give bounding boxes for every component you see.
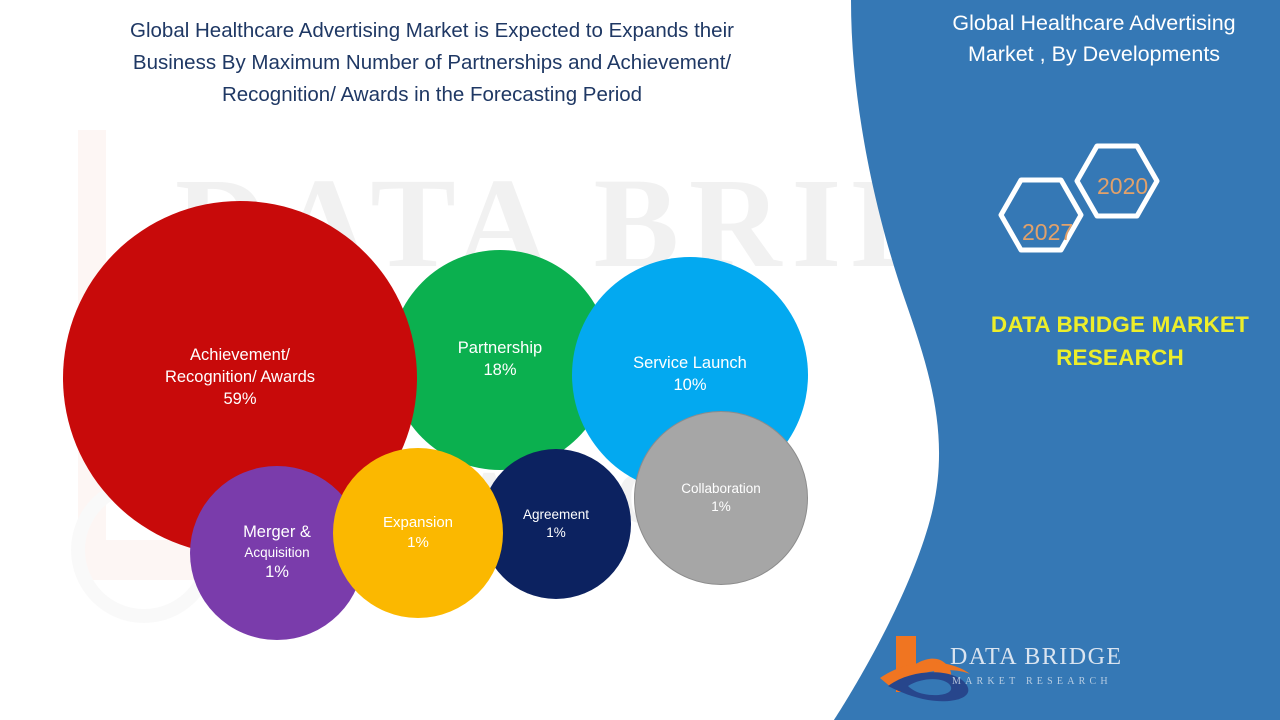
bubble-achievement-line2: Recognition/ Awards — [165, 367, 315, 389]
bubble-merger-acquisition-line2: Acquisition — [243, 544, 311, 562]
panel-heading-line2: Market , By Developments — [920, 39, 1268, 70]
bubble-label-partnership: Partnership18% — [452, 338, 548, 382]
bubble-expansion[interactable]: Expansion1% — [333, 448, 503, 618]
brand-name-line2: RESEARCH — [975, 341, 1265, 374]
bubble-agreement-line1: Agreement — [523, 506, 589, 524]
brand-name: DATA BRIDGE MARKET RESEARCH — [975, 308, 1265, 374]
page-title-line1: Global Healthcare Advertising Market is … — [62, 15, 802, 47]
bubble-label-expansion: Expansion1% — [377, 513, 459, 553]
hexagon-2020-label: 2020 — [1097, 173, 1148, 200]
brand-name-line1: DATA BRIDGE MARKET — [975, 308, 1265, 341]
bubble-label-agreement: Agreement1% — [517, 506, 595, 542]
bubble-collaboration-line1: Collaboration — [681, 480, 761, 498]
panel-heading-line1: Global Healthcare Advertising — [920, 8, 1268, 39]
hexagon-group — [985, 138, 1185, 268]
bubble-merger-acquisition-value: 1% — [243, 562, 311, 584]
page-title-line2: Business By Maximum Number of Partnershi… — [62, 47, 802, 79]
bubble-expansion-value: 1% — [383, 533, 453, 553]
bubble-partnership-value: 18% — [458, 360, 542, 382]
bubble-service-launch-value: 10% — [633, 375, 747, 397]
bubble-label-service-launch: Service Launch10% — [627, 353, 753, 397]
bubble-agreement[interactable]: Agreement1% — [481, 449, 631, 599]
bubble-agreement-value: 1% — [523, 524, 589, 542]
bubble-label-merger-acquisition: Merger &Acquisition1% — [237, 522, 317, 583]
infographic-canvas: DATA BRIDGE RESEARCH Global Healthcare A… — [0, 0, 1280, 720]
page-title: Global Healthcare Advertising Market is … — [62, 15, 802, 111]
panel-heading: Global Healthcare Advertising Market , B… — [920, 8, 1268, 70]
bubble-service-launch-line1: Service Launch — [633, 353, 747, 375]
page-title-line3: Recognition/ Awards in the Forecasting P… — [62, 79, 802, 111]
bubble-achievement-value: 59% — [165, 389, 315, 411]
bubble-collaboration[interactable]: Collaboration1% — [634, 411, 808, 585]
hexagon-2027-label: 2027 — [1022, 219, 1073, 246]
bubble-expansion-line1: Expansion — [383, 513, 453, 533]
bubble-achievement-line1: Achievement/ — [165, 345, 315, 367]
bubble-partnership-line1: Partnership — [458, 338, 542, 360]
logo-primary-text: DATA BRIDGE — [950, 644, 1123, 671]
logo-secondary-text: MARKET RESEARCH — [952, 676, 1112, 687]
bubble-label-achievement: Achievement/Recognition/ Awards59% — [159, 345, 321, 410]
bubble-label-collaboration: Collaboration1% — [675, 480, 767, 516]
bubble-merger-acquisition-line1: Merger & — [243, 522, 311, 544]
bubble-collaboration-value: 1% — [681, 498, 761, 516]
